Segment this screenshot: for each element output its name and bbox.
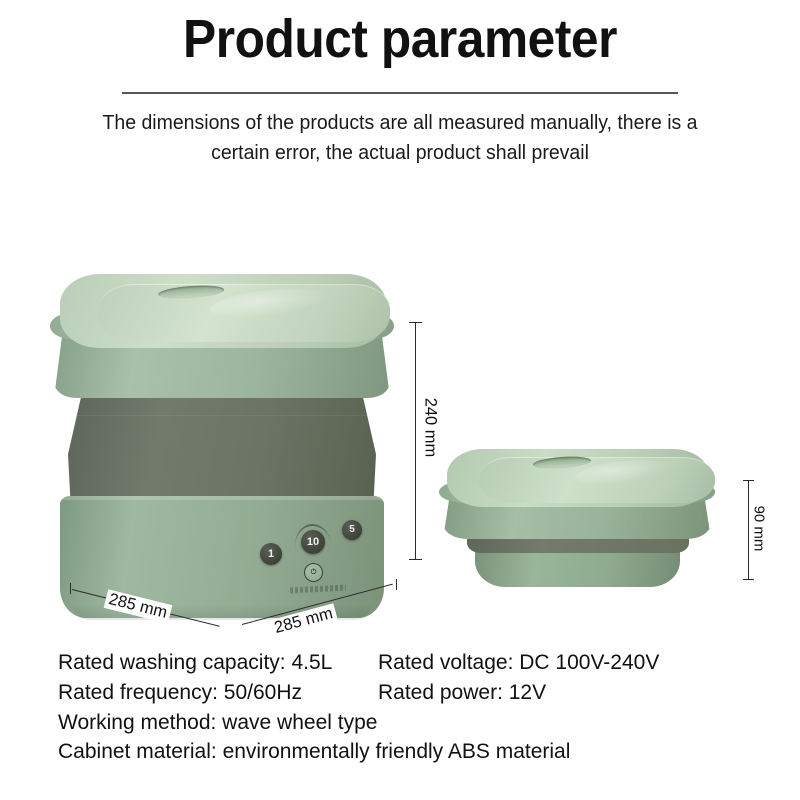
spec-row: Cabinet material: environmentally friend… xyxy=(58,737,758,767)
specification-list: Rated washing capacity: 4.5L Rated volta… xyxy=(58,648,758,767)
dimension-line-height xyxy=(415,322,416,560)
spec-row: Rated washing capacity: 4.5L Rated volta… xyxy=(58,648,758,678)
dimension-cap-depth xyxy=(396,579,397,590)
dimension-cap-folded-top xyxy=(743,480,754,481)
spec-cabinet-material: Cabinet material: environmentally friend… xyxy=(58,737,758,767)
title-divider xyxy=(122,92,678,94)
control-button-1[interactable]: 1 xyxy=(260,543,282,565)
dimension-cap-width xyxy=(70,583,71,594)
control-button-10[interactable]: 10 xyxy=(301,530,325,554)
page-header: Product parameter The dimensions of the … xyxy=(0,0,800,66)
folded-lid xyxy=(447,449,709,507)
spec-frequency: Rated frequency: 50/60Hz xyxy=(58,678,378,708)
page-title: Product parameter xyxy=(32,0,768,66)
dimension-cap-folded-bottom xyxy=(743,579,754,580)
dimension-line-folded-height xyxy=(748,480,749,580)
page-subtitle: The dimensions of the products are all m… xyxy=(77,108,723,169)
dimension-cap-bottom xyxy=(409,559,422,560)
control-button-5[interactable]: 5 xyxy=(342,520,362,540)
product-illustration-stage: 1 10 5 ⏻ 240 mm 90 mm 285 mm 285 mm xyxy=(0,190,800,640)
product-image-folded xyxy=(425,445,735,605)
product-image-expanded: 1 10 5 ⏻ xyxy=(38,268,413,693)
spec-row: Rated frequency: 50/60Hz Rated power: 12… xyxy=(58,678,758,708)
dimension-cap-top xyxy=(409,322,422,323)
power-icon[interactable]: ⏻ xyxy=(304,563,323,582)
spec-row: Working method: wave wheel type xyxy=(58,708,758,738)
dimension-label-height: 240 mm xyxy=(420,395,439,461)
spec-capacity: Rated washing capacity: 4.5L xyxy=(58,648,378,678)
dimension-label-folded-height: 90 mm xyxy=(750,503,767,555)
spec-power: Rated power: 12V xyxy=(378,678,758,708)
spec-voltage: Rated voltage: DC 100V-240V xyxy=(378,648,758,678)
brand-microtext xyxy=(290,585,346,594)
control-panel: 1 10 5 ⏻ xyxy=(38,268,413,693)
spec-working-method: Working method: wave wheel type xyxy=(58,708,758,738)
